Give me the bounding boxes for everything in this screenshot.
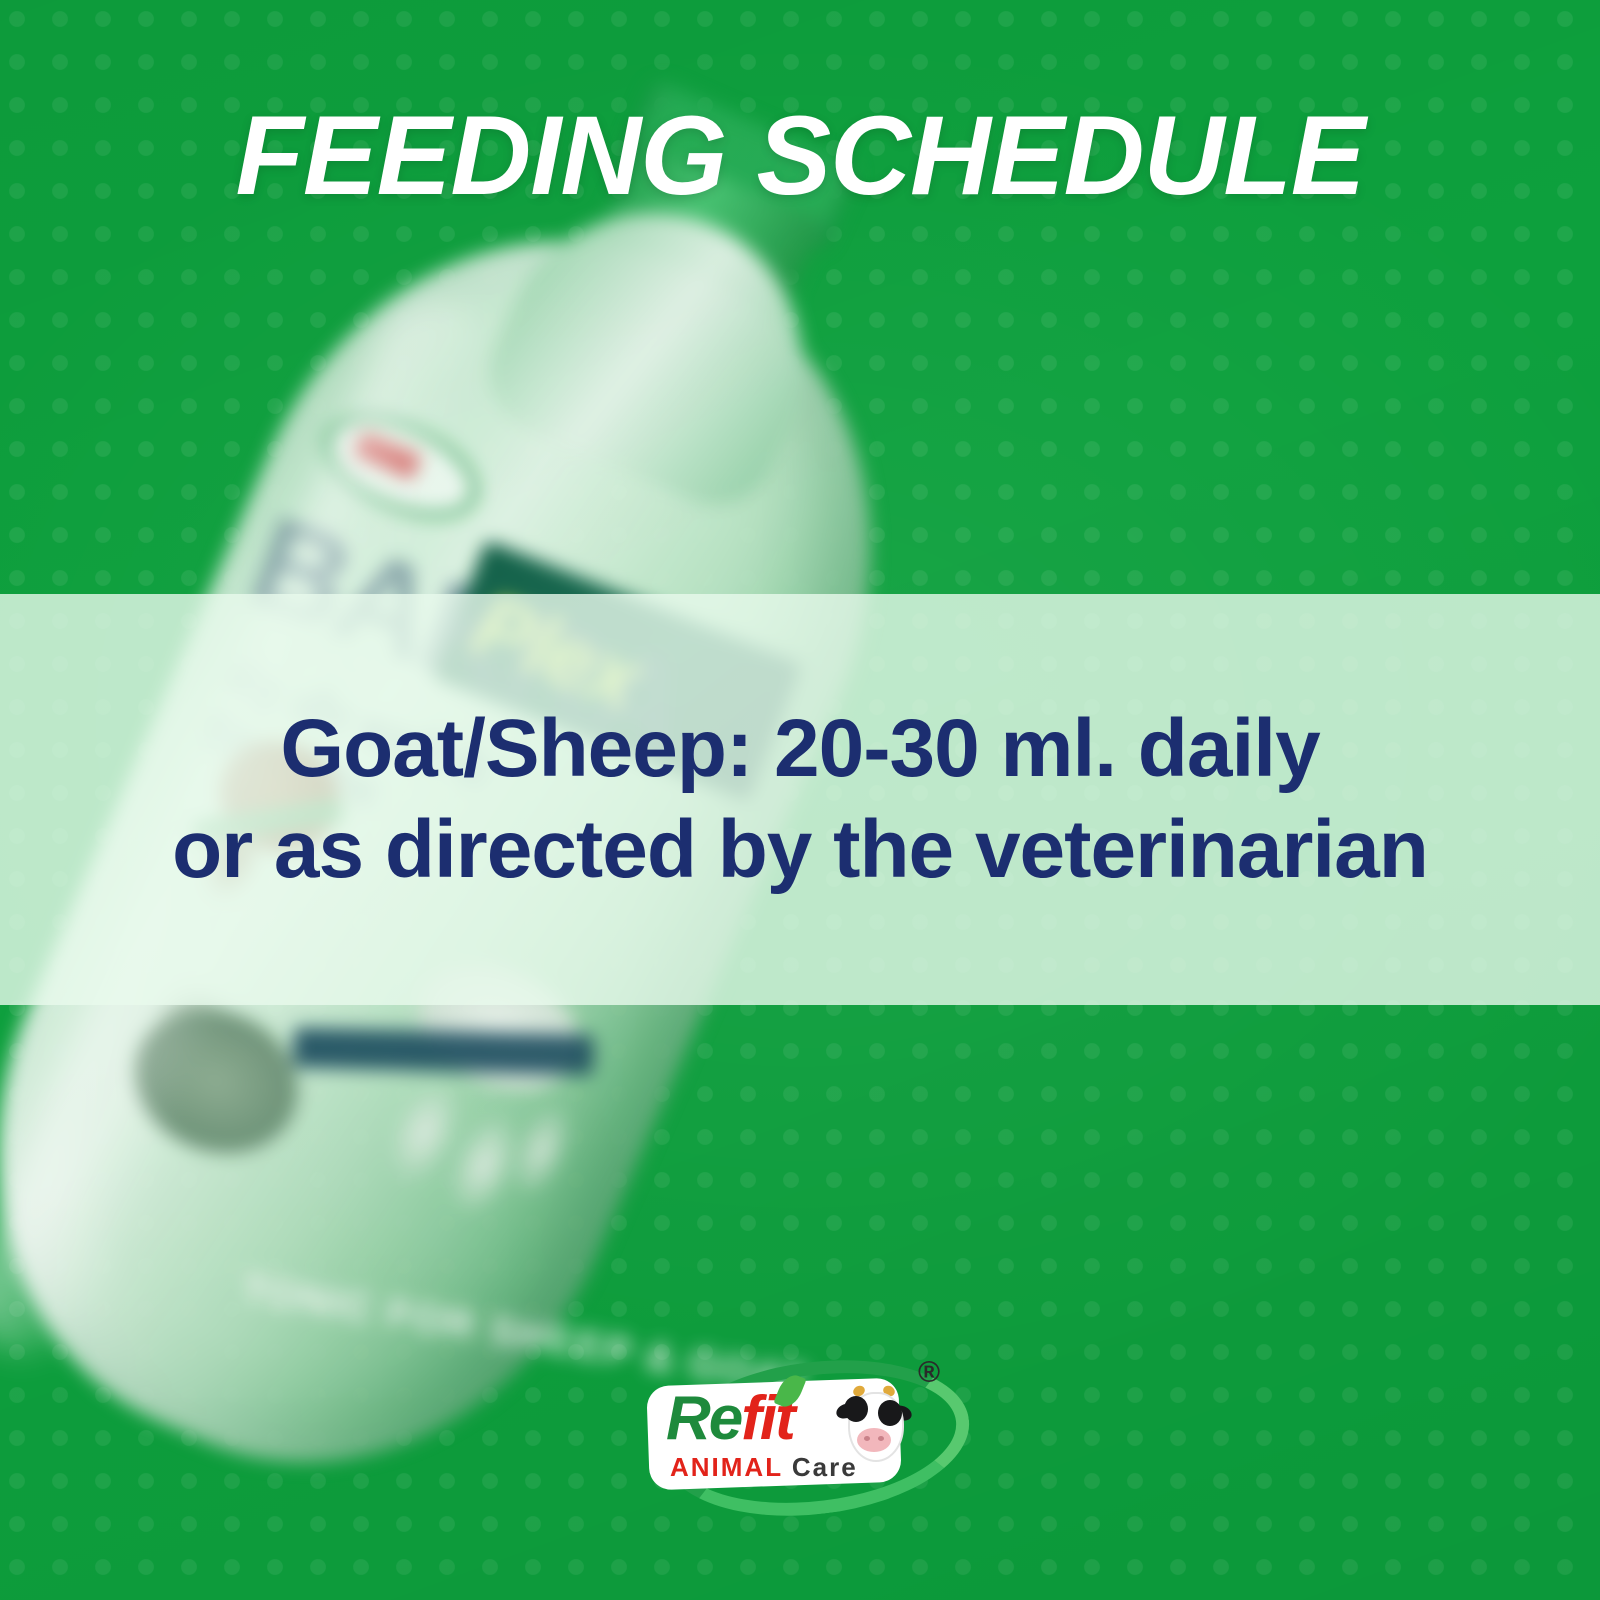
cow-patch-left bbox=[844, 1396, 868, 1422]
cow-muzzle bbox=[857, 1428, 891, 1452]
logo-sub-animal: ANIMAL bbox=[670, 1452, 783, 1482]
cow-nostril-right bbox=[878, 1436, 884, 1441]
dosage-message-band: Goat/Sheep: 20-30 ml. daily or as direct… bbox=[0, 594, 1600, 1005]
cow-patch-right bbox=[878, 1400, 902, 1426]
dosage-line-2: or as directed by the veterinarian bbox=[172, 800, 1428, 900]
logo-subtitle: ANIMAL Care bbox=[670, 1452, 858, 1483]
cow-nostril-left bbox=[864, 1436, 870, 1441]
feeding-schedule-poster: BAKRA Plex भेड़ और बकरी के लिए टॉनिक TON… bbox=[0, 0, 1600, 1600]
registered-trademark-icon: ® bbox=[918, 1358, 940, 1388]
refit-logo: Refit ANIMAL Care ® bbox=[640, 1352, 960, 1512]
page-title: FEEDING SCHEDULE bbox=[0, 100, 1600, 212]
dosage-line-1: Goat/Sheep: 20-30 ml. daily bbox=[280, 699, 1319, 799]
cow-icon bbox=[836, 1384, 912, 1468]
logo-word-re: Re bbox=[666, 1384, 741, 1453]
